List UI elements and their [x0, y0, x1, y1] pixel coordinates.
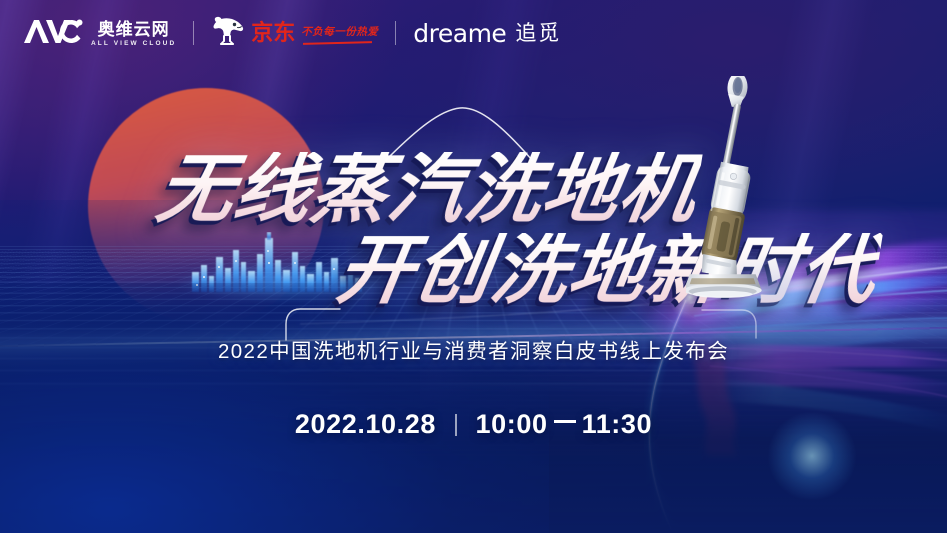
event-date: 2022.10.28 — [295, 409, 436, 440]
event-time-end: 11:30 — [582, 409, 653, 440]
event-time-start: 10:00 — [476, 409, 548, 440]
sponsor-logo-bar: 奥维云网 ALL VIEW CLOUD 京东 不负每一份热爱 — [0, 0, 947, 66]
event-time-dash — [554, 420, 576, 423]
cordless-steam-mop-product-image — [686, 76, 816, 311]
avc-logo-text: 奥维云网 ALL VIEW CLOUD — [91, 21, 176, 49]
event-time-range: 10:00 11:30 — [476, 409, 653, 440]
dreame-chinese-name: 追觅 — [515, 23, 561, 44]
avc-english-name: ALL VIEW CLOUD — [91, 41, 176, 48]
jd-slogan: 不负每一份热爱 — [301, 26, 378, 38]
event-datetime: 2022.10.28 10:00 11:30 — [0, 409, 947, 440]
jd-slogan-wrap: 不负每一份热爱 — [301, 22, 378, 44]
bottom-left-blue-glow — [0, 283, 549, 533]
avc-chinese-name: 奥维云网 — [98, 21, 170, 38]
logo-divider-2 — [395, 21, 396, 45]
dreame-logo: dreame 追觅 — [413, 21, 561, 46]
avc-logo-icon — [22, 18, 84, 49]
arc-line-decoration — [382, 104, 562, 169]
event-subtitle: 2022中国洗地机行业与消费者洞察白皮书线上发布会 — [0, 334, 947, 364]
jd-logo: 京东 不负每一份热爱 — [211, 16, 378, 51]
logo-divider-1 — [193, 21, 194, 45]
jd-dog-icon — [211, 16, 245, 51]
datetime-separator — [455, 414, 457, 436]
dreame-english-name: dreame — [413, 21, 506, 46]
promo-banner: 奥维云网 ALL VIEW CLOUD 京东 不负每一份热爱 — [0, 0, 947, 533]
jd-slogan-underline — [303, 41, 372, 45]
jd-chinese-name: 京东 — [251, 22, 295, 44]
avc-logo: 奥维云网 ALL VIEW CLOUD — [22, 18, 176, 49]
